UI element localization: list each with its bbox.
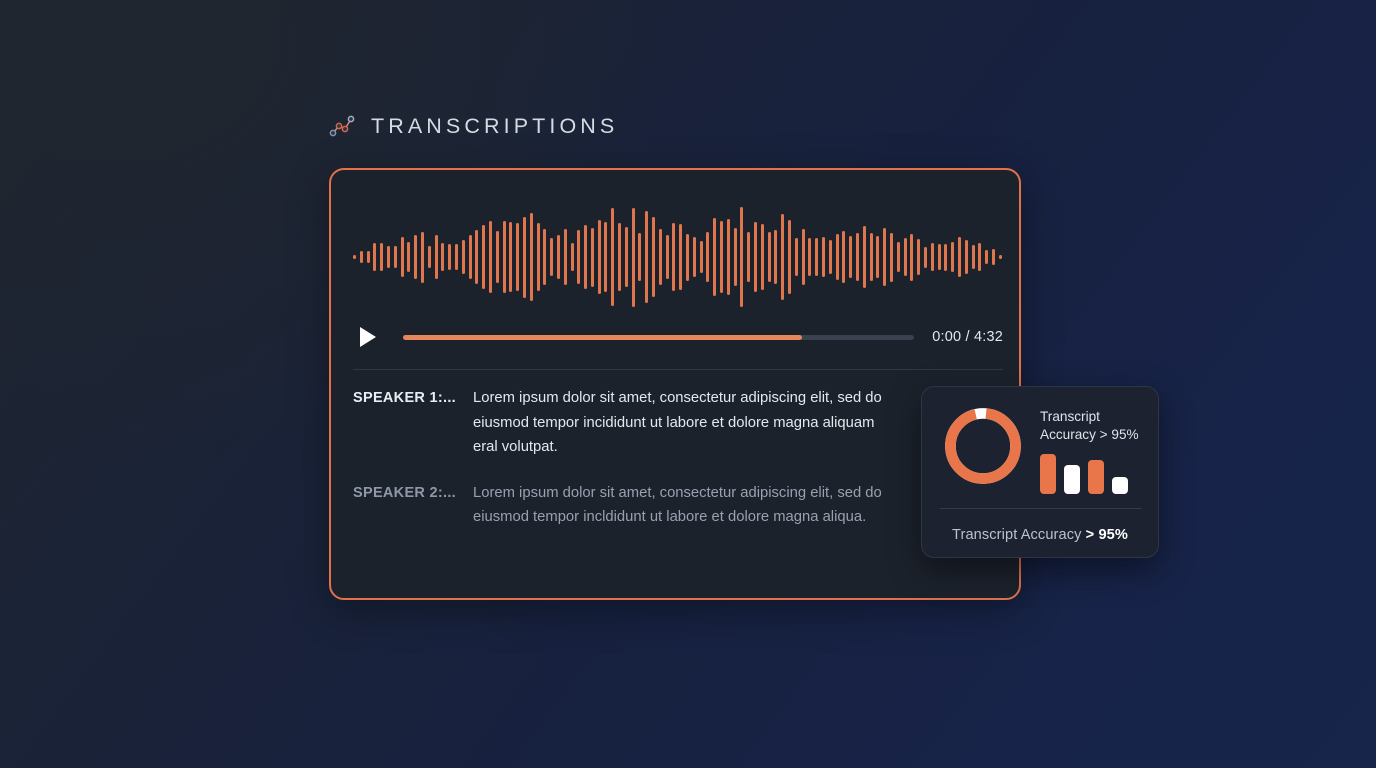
waveform-bar: [978, 243, 981, 271]
waveform-bar: [849, 236, 852, 278]
waveform-bar: [475, 230, 478, 284]
waveform-bar: [652, 217, 655, 297]
waveform-bar: [523, 217, 526, 298]
card-caption-line-1: Transcript: [1040, 408, 1140, 426]
waveform-bar: [672, 223, 675, 290]
speech-text: Lorem ipsum dolor sit amet, consectetur …: [473, 386, 893, 460]
card-top-row: Transcript Accuracy > 95%: [940, 403, 1140, 494]
speech-text: Lorem ipsum dolor sit amet, consectetur …: [473, 481, 893, 530]
waveform-bar: [720, 221, 723, 292]
waveform-bar: [883, 228, 886, 287]
waveform-bar: [462, 240, 465, 275]
waveform-bar: [747, 232, 750, 282]
progress-slider[interactable]: [403, 335, 914, 340]
waveform-bar: [503, 221, 506, 293]
page-title: TRANSCRIPTIONS: [371, 114, 618, 139]
waveform-bar: [604, 222, 607, 292]
waveform-bar: [367, 251, 370, 262]
audio-waveform[interactable]: [353, 202, 1003, 312]
waveform-bar: [645, 211, 648, 302]
waveform-bar: [917, 239, 920, 276]
waveform-bar: [829, 240, 832, 273]
panel-divider: [353, 369, 1003, 370]
speaker-label: SPEAKER 2:...: [353, 481, 473, 506]
waveform-bar: [441, 243, 444, 272]
time-label: 0:00 / 4:32: [932, 329, 1003, 345]
waveform-bar: [496, 231, 499, 282]
waveform-bar: [924, 247, 927, 268]
waveform-bar: [734, 228, 737, 287]
waveform-bar: [795, 238, 798, 275]
waveform-bar: [564, 229, 567, 286]
page-header: TRANSCRIPTIONS: [329, 113, 618, 139]
waveform-bar: [509, 222, 512, 292]
page-root: TRANSCRIPTIONS 0:00 / 4:32 SPEAKER 1:...…: [0, 0, 1376, 768]
waveform-bar: [727, 219, 730, 296]
waveform-bar: [842, 231, 845, 283]
card-caption-block: Transcript Accuracy > 95%: [1040, 403, 1140, 494]
card-caption-line-2: Accuracy > 95%: [1040, 426, 1140, 444]
waveform-bar: [686, 234, 689, 281]
waveform-bar: [774, 230, 777, 284]
mini-bar-chart: [1040, 454, 1140, 494]
waveform-bar: [706, 232, 709, 282]
waveform-bar: [550, 238, 553, 275]
waveform-bar: [530, 213, 533, 300]
mini-bar: [1040, 454, 1056, 494]
waveform-bar: [679, 224, 682, 291]
waveform-bar: [421, 232, 424, 283]
waveform-bar: [611, 208, 614, 306]
card-footer-value: > 95%: [1086, 527, 1128, 543]
waveform-bar: [713, 218, 716, 295]
waveform-bar: [407, 242, 410, 272]
waveform-bar: [788, 220, 791, 293]
waveform-bar: [577, 230, 580, 285]
waveform-bar: [951, 242, 954, 273]
waveform-bar: [870, 233, 873, 281]
waveform-bar: [584, 225, 587, 289]
waveform-bar: [999, 255, 1002, 259]
mini-bar: [1064, 465, 1080, 494]
mini-bar: [1112, 477, 1128, 494]
waveform-bar: [489, 221, 492, 292]
waveform-bar: [469, 235, 472, 280]
waveform-bar: [360, 251, 363, 263]
waveform-bar: [802, 229, 805, 284]
waveform-bar: [938, 244, 941, 270]
waveform-bar: [387, 246, 390, 269]
waveform-bar: [700, 241, 703, 273]
waveform-bar: [557, 235, 560, 279]
waveform-bar: [516, 223, 519, 290]
waveform-bar: [958, 237, 961, 276]
transcript-entry: SPEAKER 1:...Lorem ipsum dolor sit amet,…: [353, 386, 1003, 460]
waveform-bar: [401, 237, 404, 277]
waveform-bar: [632, 208, 635, 307]
waveform-bar: [482, 225, 485, 288]
waveform-bar: [618, 223, 621, 290]
waveform-bar: [972, 245, 975, 269]
waveform-bar: [373, 243, 376, 270]
graph-nodes-icon: [329, 113, 355, 139]
waveform-bar: [897, 242, 900, 271]
waveform-bar: [448, 244, 451, 270]
waveform-bar: [985, 250, 988, 264]
waveform-bar: [598, 220, 601, 293]
waveform-bar: [761, 224, 764, 290]
waveform-bar: [944, 244, 947, 271]
play-icon[interactable]: [353, 325, 379, 349]
waveform-bar: [808, 238, 811, 276]
waveform-bar: [856, 233, 859, 280]
waveform-bar: [836, 234, 839, 279]
progress-fill: [403, 335, 802, 340]
waveform-bar: [428, 246, 431, 268]
waveform-bar: [890, 233, 893, 282]
waveform-bar: [625, 227, 628, 287]
waveform-bar: [740, 207, 743, 307]
waveform-bar: [910, 234, 913, 281]
waveform-bar: [380, 243, 383, 271]
mini-bar: [1088, 460, 1104, 494]
waveform-bar: [659, 229, 662, 286]
waveform-bar: [638, 233, 641, 281]
waveform-bar: [992, 249, 995, 265]
waveform-bar: [571, 243, 574, 271]
waveform-bar: [455, 244, 458, 270]
waveform-bar: [543, 229, 546, 285]
waveform-bar: [822, 237, 825, 276]
donut-chart-icon: [940, 403, 1026, 489]
speaker-label: SPEAKER 1:...: [353, 386, 473, 411]
waveform-bar: [931, 243, 934, 271]
waveform-bar: [815, 238, 818, 277]
waveform-bar: [754, 222, 757, 293]
waveform-bar: [781, 214, 784, 299]
waveform-bar: [414, 235, 417, 280]
audio-player-controls: 0:00 / 4:32: [353, 322, 1003, 352]
waveform-bar: [394, 246, 397, 269]
waveform-bar: [904, 238, 907, 277]
waveform-bar: [353, 255, 356, 259]
transcript-list: SPEAKER 1:...Lorem ipsum dolor sit amet,…: [353, 386, 1003, 551]
card-footer-prefix: Transcript Accuracy: [952, 527, 1086, 543]
waveform-bar: [666, 235, 669, 279]
card-divider: [940, 508, 1142, 509]
waveform-bar: [435, 235, 438, 279]
waveform-bar: [863, 226, 866, 287]
transcription-panel: 0:00 / 4:32 SPEAKER 1:...Lorem ipsum dol…: [329, 168, 1021, 600]
waveform-bar: [768, 232, 771, 282]
waveform-bar: [965, 240, 968, 274]
waveform-bar: [693, 237, 696, 277]
waveform-bar: [537, 223, 540, 290]
transcript-entry: SPEAKER 2:...Lorem ipsum dolor sit amet,…: [353, 481, 1003, 530]
waveform-bar: [876, 236, 879, 277]
card-footer: Transcript Accuracy > 95%: [922, 527, 1158, 543]
waveform-bar: [591, 228, 594, 287]
transcript-accuracy-card: Transcript Accuracy > 95% Transcript Acc…: [921, 386, 1159, 558]
